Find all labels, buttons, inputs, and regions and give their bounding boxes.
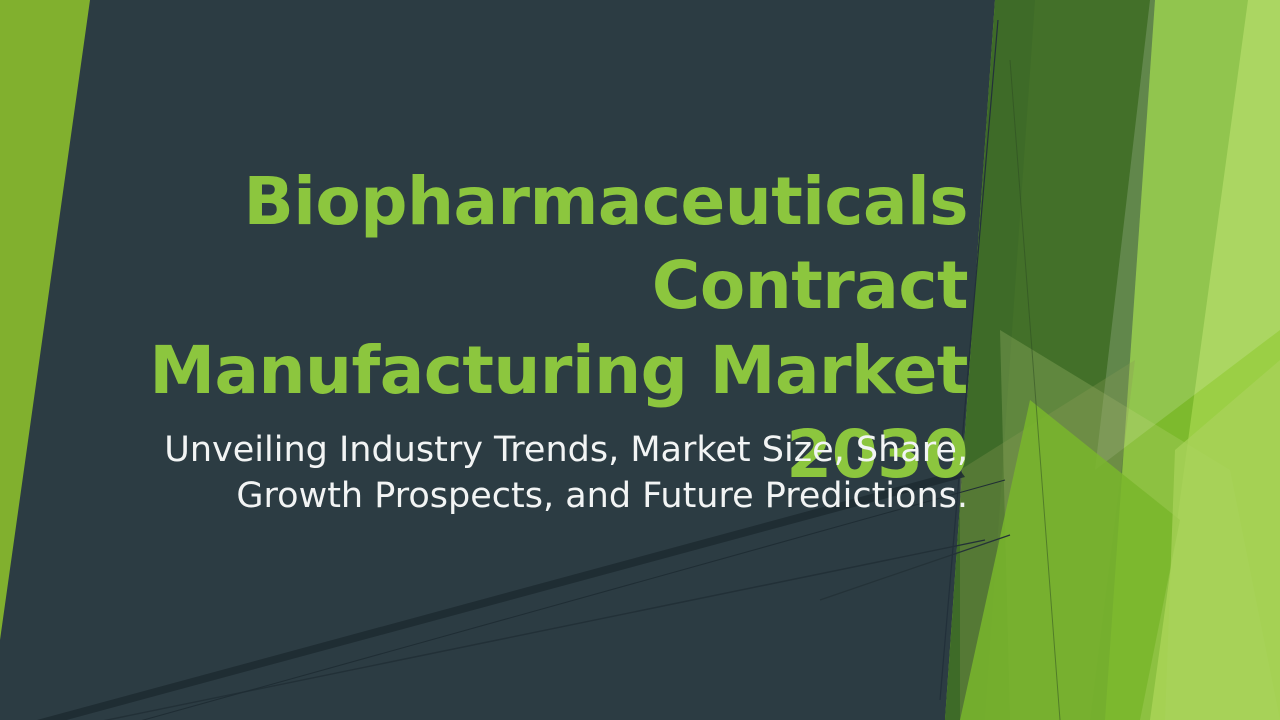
title-slide: Biopharmaceuticals Contract Manufacturin… [0, 0, 1280, 720]
slide-text-layer: Biopharmaceuticals Contract Manufacturin… [0, 0, 1280, 720]
subtitle-container: Unveiling Industry Trends, Market Size, … [150, 428, 968, 520]
slide-subtitle: Unveiling Industry Trends, Market Size, … [150, 428, 968, 520]
